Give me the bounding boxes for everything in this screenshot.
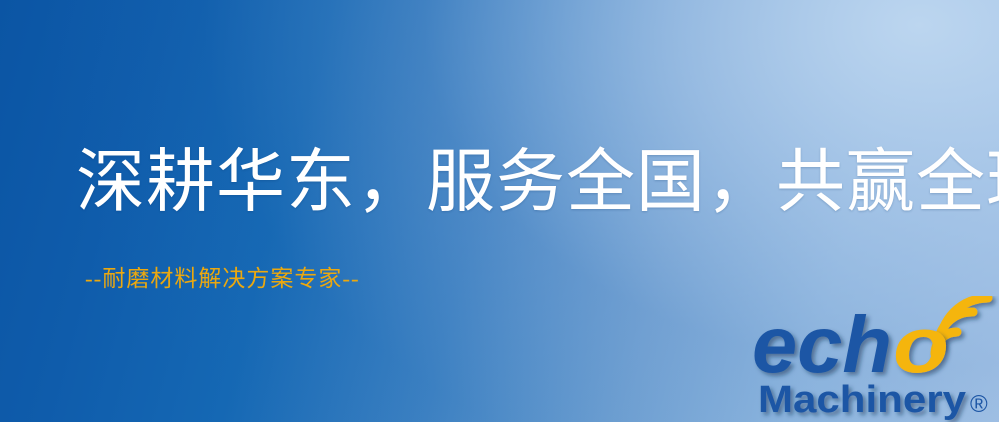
logo-wordmark-blue: ech [752, 300, 892, 389]
promo-banner: 深耕华东，服务全国，共赢全球 --耐磨材料解决方案专家-- ech o Mach… [0, 0, 999, 422]
page-subtitle: --耐磨材料解决方案专家-- [85, 267, 360, 290]
page-title: 深耕华东，服务全国，共赢全球 [76, 148, 999, 217]
logo-graphic: ech o Machinery ® [752, 296, 999, 422]
logo-tagline: Machinery [758, 379, 966, 421]
registered-trademark-symbol: ® [970, 391, 988, 418]
logo-wordmark-gold-o: o [893, 300, 949, 389]
echo-machinery-logo[interactable]: ech o Machinery ® [752, 296, 999, 422]
